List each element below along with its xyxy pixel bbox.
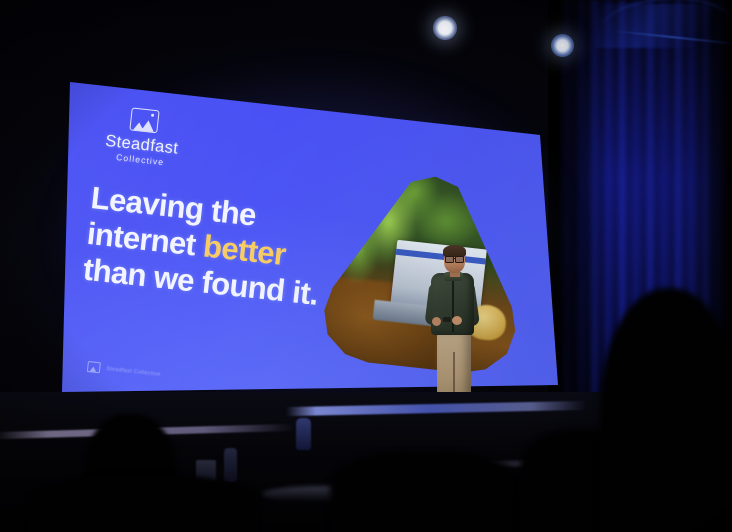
audience-silhouette-right [600, 288, 732, 532]
audience-silhouette-left-body [28, 474, 258, 532]
water-bottle [296, 418, 311, 450]
presenter-hand-right [452, 316, 462, 325]
spotlight-left-icon [433, 16, 457, 40]
audience-silhouette-center [330, 452, 520, 532]
water-bottle [224, 448, 237, 482]
glasses-lens-right [455, 256, 464, 263]
stage-scene: Steadfast Collective Leaving the interne… [0, 0, 732, 532]
spotlight-right-icon [551, 34, 574, 57]
presenter-hand-left [432, 317, 441, 326]
presentation-clicker [443, 317, 451, 322]
glasses-icon [445, 256, 464, 261]
